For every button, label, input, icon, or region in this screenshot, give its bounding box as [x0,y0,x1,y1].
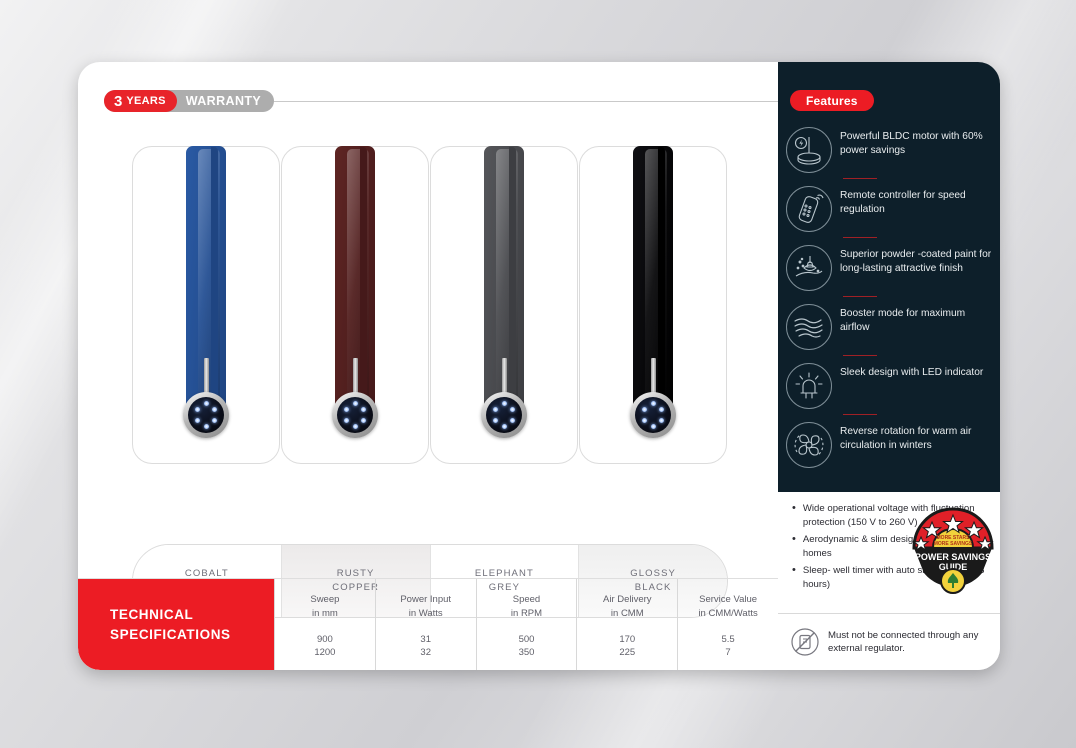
feature-item-4: Booster mode for maximum airflow [786,301,992,351]
led-indicator [195,407,200,412]
led-indicator [344,407,349,412]
bee-title: POWER SAVINGS [915,552,991,562]
spec-value-2: 32 [420,646,431,660]
led-indicator [344,418,349,423]
bee-power-savings-badge: MORE STARS MORE SAVINGS POWER SAVINGS GU… [910,503,996,595]
led-indicator [651,401,656,406]
spec-header-line2: in CMM [603,607,652,621]
bullet-dot: • [792,533,796,560]
airflow-waves-icon [786,304,832,350]
spec-header: Power Inputin Watts [400,593,451,621]
spec-values: 5.57 [721,633,734,661]
led-indicator [510,407,515,412]
fan-hub-inner [337,397,373,433]
warranty-divider-line [274,101,778,102]
spec-header-line1: Speed [511,593,542,607]
spec-value-1: 5.5 [721,633,734,647]
spec-header: Service Valuein CMM/Watts [698,593,757,621]
features-badge: Features [790,90,874,111]
warranty-badge: 3 YEARS WARRANTY [104,90,274,112]
spec-header: Speedin RPM [511,593,542,621]
led-indicator [204,424,209,429]
spec-column-4: Air Deliveryin CMM170225 [576,579,677,670]
led-indicator [502,424,507,429]
spec-values: 3132 [420,633,431,661]
led-indicator [651,424,656,429]
feature-separator [843,178,877,179]
spec-value-1: 31 [420,633,431,647]
bullet-dot: • [792,502,796,529]
led-indicator [212,418,217,423]
led-indicator [195,418,200,423]
feature-item-1: Powerful BLDC motor with 60% power savin… [786,124,992,174]
spec-header-line1: Service Value [698,593,757,607]
fan-image-rusty-copper [327,146,383,436]
fan-motor-hub [183,392,229,438]
fan-showcase: COBALT BLUE RUSTY COPPER ELEPHANT GREY G… [78,128,778,670]
features-list: Powerful BLDC motor with 60% power savin… [786,124,992,469]
spec-header-line2: in Watts [400,607,451,621]
led-indicator [493,407,498,412]
spec-value-1: 170 [619,633,635,647]
specs-columns: Sweepin mm9001200Power Inputin Watts3132… [274,579,778,670]
feature-item-3: Superior powder -coated paint for long-l… [786,242,992,292]
spec-header-line2: in RPM [511,607,542,621]
spec-header-line2: in CMM/Watts [698,607,757,621]
led-indicator [361,418,366,423]
warranty-row: 3 YEARS WARRANTY [104,90,778,112]
led-indicator [502,401,507,406]
features-panel: Features Powerful BLDC motor with 60% po… [778,62,1000,492]
led-indicator [353,424,358,429]
feature-separator [843,237,877,238]
feature-item-5: Sleek design with LED indicator [786,360,992,410]
fan-image-glossy-black [625,146,681,436]
spec-value-2: 7 [721,646,734,660]
feature-separator [843,296,877,297]
powder-coat-icon [786,245,832,291]
led-indicator [361,407,366,412]
led-bulb-icon [786,363,832,409]
fan-hub-inner [188,397,224,433]
spec-value-1: 900 [314,633,335,647]
feature-text: Reverse rotation for warm air circulatio… [840,420,992,453]
led-indicator [204,401,209,406]
regulator-warning: Must not be connected through any extern… [778,614,1000,670]
fan-motor-hub [481,392,527,438]
spec-header-line2: in mm [310,607,339,621]
led-indicator [642,418,647,423]
warranty-label: WARRANTY [186,94,261,108]
spec-header-line1: Sweep [310,593,339,607]
led-indicator [659,407,664,412]
led-indicator [659,418,664,423]
feature-text: Remote controller for speed regulation [840,184,992,217]
spec-value-2: 1200 [314,646,335,660]
product-spec-card: 3 YEARS WARRANTY COBALT BLUE RUSTY CO [78,62,1000,670]
spec-value-2: 225 [619,646,635,660]
feature-item-6: Reverse rotation for warm air circulatio… [786,419,992,469]
led-indicator [510,418,515,423]
fan-blade-edge [658,147,665,405]
spec-header: Air Deliveryin CMM [603,593,652,621]
no-regulator-icon [790,627,820,657]
spec-value-1: 500 [519,633,535,647]
led-indicator [212,407,217,412]
spec-values: 9001200 [314,633,335,661]
led-indicator [493,418,498,423]
fan-blade-edge [509,147,516,405]
left-panel: 3 YEARS WARRANTY COBALT BLUE RUSTY CO [78,62,778,670]
feature-separator [843,414,877,415]
fan-hub-inner [486,397,522,433]
fan-hub-inner [635,397,671,433]
feature-item-2: Remote controller for speed regulation [786,183,992,233]
technical-specifications-table: TECHNICAL SPECIFICATIONS Sweepin mm90012… [78,578,778,670]
remote-control-icon [786,186,832,232]
spec-column-5: Service Valuein CMM/Watts5.57 [677,579,778,670]
specs-title: TECHNICAL SPECIFICATIONS [78,579,274,670]
bullet-points-section: •Wide operational voltage with fluctuati… [778,492,1000,614]
warranty-number: 3 [114,94,122,109]
feature-text: Powerful BLDC motor with 60% power savin… [840,125,992,158]
spec-value-2: 350 [519,646,535,660]
feature-text: Booster mode for maximum airflow [840,302,992,335]
fan-image-cobalt-blue [178,146,234,436]
spec-column-3: Speedin RPM500350 [476,579,577,670]
reverse-rotation-icon [786,422,832,468]
fan-blade-edge [211,147,218,405]
spec-values: 500350 [519,633,535,661]
spec-header: Sweepin mm [310,593,339,621]
motor-bolt-icon [786,127,832,173]
spec-header-line1: Power Input [400,593,451,607]
specs-title-line1: TECHNICAL [110,605,274,625]
fan-motor-hub [332,392,378,438]
led-indicator [642,407,647,412]
spec-column-1: Sweepin mm9001200 [274,579,375,670]
fan-blade-edge [360,147,367,405]
spec-column-2: Power Inputin Watts3132 [375,579,476,670]
regulator-warning-text: Must not be connected through any extern… [828,629,990,656]
specs-title-line2: SPECIFICATIONS [110,625,274,645]
bee-arc-text-2: MORE SAVINGS [934,541,973,547]
bullet-dot: • [792,564,796,591]
spec-header-line1: Air Delivery [603,593,652,607]
right-panel: Features Powerful BLDC motor with 60% po… [778,62,1000,670]
warranty-years-label: YEARS [126,95,165,107]
spec-values: 170225 [619,633,635,661]
feature-separator [843,355,877,356]
fan-motor-hub [630,392,676,438]
feature-text: Superior powder -coated paint for long-l… [840,243,992,276]
fan-image-elephant-grey [476,146,532,436]
warranty-years-pill: 3 YEARS [104,90,177,112]
feature-text: Sleek design with LED indicator [840,361,983,380]
led-indicator [353,401,358,406]
